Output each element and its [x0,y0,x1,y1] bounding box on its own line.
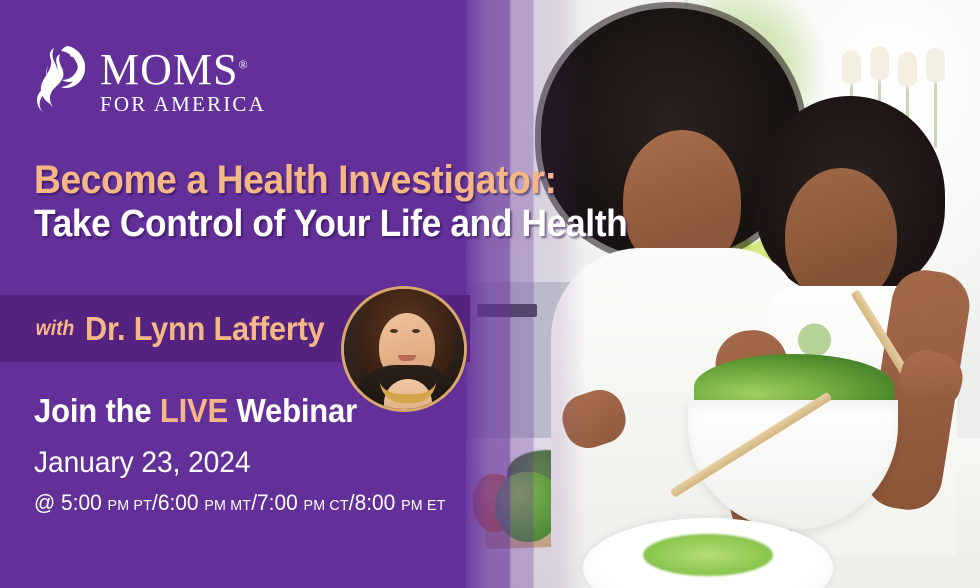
pt-time: 5:00 [61,490,107,515]
logo-moms-text: MOMS® [100,48,249,92]
join-post-text: Webinar [228,392,357,429]
at-symbol: @ [34,490,61,515]
webinar-date: January 23, 2024 [34,446,441,480]
webinar-promo-banner: MOMS® FOR AMERICA Become a Health Invest… [0,0,980,588]
pt-label: PM PT [108,497,153,514]
logo-wordmark: MOMS® FOR AMERICA [100,48,266,115]
speaker-name: Dr. Lynn Lafferty [85,310,325,348]
live-badge: LIVE [160,392,228,429]
kitchen-photo [455,0,980,588]
mt-label: PM MT [204,497,251,514]
et-label: PM ET [401,497,446,514]
daughter-face [785,168,897,304]
ct-time: 7:00 [257,490,303,515]
speaker-headshot [341,286,467,412]
headline: Become a Health Investigator: Take Contr… [34,158,594,245]
join-pre-text: Join the [34,392,160,429]
purple-gradient-overlay [455,0,585,588]
moms-for-america-logo: MOMS® FOR AMERICA [34,44,266,118]
speaker-prefix: with [36,317,75,341]
chopped-greens [643,534,773,576]
headshot-eye [390,329,398,333]
logo-name: MOMS [100,45,239,94]
et-time: 8:00 [355,490,401,515]
flame-swirl-icon [34,44,92,118]
mt-time: 6:00 [158,490,204,515]
registered-trademark-icon: ® [239,57,249,71]
headshot-eye [412,329,420,333]
logo-tagline: FOR AMERICA [100,94,266,115]
ct-label: PM CT [304,497,349,514]
headline-line-2: Take Control of Your Life and Health [34,203,555,246]
headline-line-1: Become a Health Investigator: [34,158,555,203]
webinar-times: @ 5:00 PM PT/6:00 PM MT/7:00 PM CT/8:00 … [34,490,446,516]
